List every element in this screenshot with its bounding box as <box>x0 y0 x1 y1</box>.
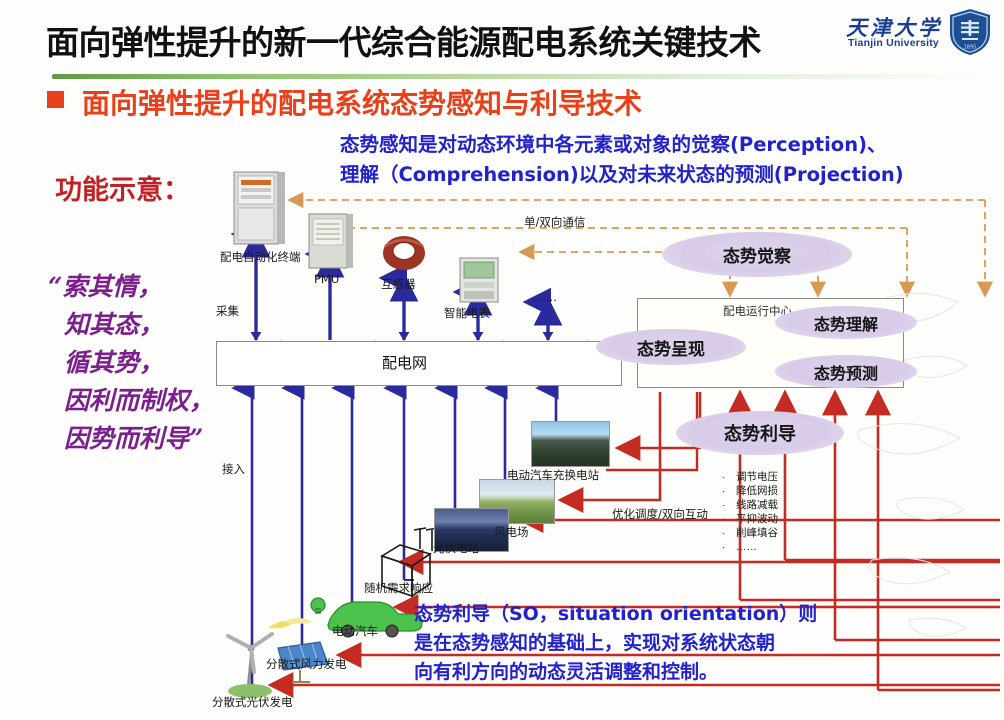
function-illustration-label: 功能示意： <box>55 168 190 207</box>
label-ev-station: 电动汽车充换电站 <box>507 467 599 483</box>
label-pv-plant: 光伏电站 <box>433 540 479 556</box>
university-logo: 天津大学 Tianjin University 1895 <box>836 6 996 62</box>
tianjin-university-shield-icon: 1895 <box>948 8 992 56</box>
control-cabinet-icon <box>234 172 285 244</box>
solar-panel-icon <box>268 618 328 682</box>
bullet-dot-icon: · <box>722 526 736 540</box>
situation-comprehension-label: 态势理解 <box>814 311 878 335</box>
bullet-dot-icon: · <box>722 512 736 526</box>
label-distributed-pv: 分散式光伏发电 <box>212 694 293 710</box>
title-divider <box>52 74 972 79</box>
bullet-dot-icon: · <box>722 470 736 484</box>
label-distributed-wind: 分散式风力发电 <box>266 656 347 672</box>
charging-station-photo-icon <box>531 421 610 467</box>
poem-line-5: 因势而利导” <box>48 420 278 458</box>
label-ct: 互感器 <box>381 276 416 292</box>
poem-line-2: 知其态， <box>48 306 278 344</box>
label-collect: 采集 <box>216 303 239 319</box>
intro-line-2: 理解（Comprehension)以及对未来状态的预测(Projection) <box>340 160 995 190</box>
label-smart-meter: 智能电表 <box>444 305 490 321</box>
label-pmu: PMU <box>314 272 339 286</box>
conclusion-line-1: 态势利导（SO，situation orientation）则 <box>414 600 1004 629</box>
measure-item: ·降低网损 <box>722 484 778 498</box>
conclusion-paragraph: 态势利导（SO，situation orientation）则 是在态势感知的基… <box>414 600 1004 687</box>
poem-line-1: “索其情， <box>48 268 278 306</box>
conclusion-line-3: 向有利方向的动态灵活调整和控制。 <box>414 658 1004 687</box>
conclusion-line-2: 是在态势感知的基础上，实现对系统状态朝 <box>414 629 1004 658</box>
poem-line-4: 因利而制权， <box>48 382 278 420</box>
distribution-network-label: 配电网 <box>382 352 427 373</box>
title-bar: 面向弹性提升的新一代综合能源配电系统关键技术 天津大学 Tianjin Univ… <box>0 0 1004 78</box>
situation-presentation-label: 态势呈现 <box>637 335 705 360</box>
orientation-measures-list: ·调节电压 ·降低网损 ·线路减载 ·平抑波动 ·削峰填谷 ·…… <box>722 470 778 554</box>
label-more-devices: …… <box>532 290 559 304</box>
measure-label: 平抑波动 <box>736 513 778 525</box>
measure-label: …… <box>736 541 757 553</box>
measure-item: ·调节电压 <box>722 470 778 484</box>
page-title: 面向弹性提升的新一代综合能源配电系统关键技术 <box>46 16 761 64</box>
intro-line-1: 态势感知是对动态环境中各元素或对象的觉察(Perception)、 <box>340 130 995 160</box>
situation-orientation-node: 态势利导 <box>676 411 844 455</box>
measure-label: 削峰填谷 <box>736 527 778 539</box>
current-transformer-icon <box>383 236 425 270</box>
situation-projection-label: 态势预测 <box>814 360 878 384</box>
measure-item: ·线路减载 <box>722 498 778 512</box>
measure-item: ·削峰填谷 <box>722 526 778 540</box>
situation-awareness-label: 态势觉察 <box>723 242 791 267</box>
label-dtu: 配电自动化终端 <box>220 249 301 265</box>
label-access: 接入 <box>222 461 245 477</box>
label-communication: 单/双向通信 <box>524 214 585 230</box>
slide-root: 面向弹性提升的新一代综合能源配电系统关键技术 天津大学 Tianjin Univ… <box>0 0 1004 720</box>
square-bullet-icon <box>47 91 64 108</box>
logo-english-name: Tianjin University <box>848 37 939 49</box>
measure-label: 调节电压 <box>736 471 778 483</box>
label-dispatch: 优化调度/双向互动 <box>612 506 708 522</box>
svg-text:1895: 1895 <box>964 45 977 51</box>
pmu-cabinet-icon <box>309 214 353 268</box>
collection-arrow-bottom-heads <box>251 332 554 341</box>
measure-item: ·平抑波动 <box>722 512 778 526</box>
situation-projection-node: 态势预测 <box>775 355 917 388</box>
bullet-dot-icon: · <box>722 540 736 554</box>
smart-meter-icon <box>460 258 498 302</box>
label-ev: 电动汽车 <box>332 623 378 639</box>
measure-item: ·…… <box>722 540 778 554</box>
measure-label: 线路减载 <box>736 499 778 511</box>
label-wind-farm: 风电场 <box>494 524 529 540</box>
situation-awareness-node: 态势觉察 <box>662 232 852 277</box>
bullet-dot-icon: · <box>722 484 736 498</box>
bullet-dot-icon: · <box>722 498 736 512</box>
label-demand-response: 随机需求响应 <box>364 580 433 596</box>
situation-comprehension-node: 态势理解 <box>775 306 917 339</box>
intro-paragraph: 态势感知是对动态环境中各元素或对象的觉察(Perception)、 理解（Com… <box>340 130 995 190</box>
situation-presentation-node: 态势呈现 <box>596 329 746 365</box>
situation-orientation-label: 态势利导 <box>724 420 796 446</box>
measure-label: 降低网损 <box>736 485 778 497</box>
section-subtitle: 面向弹性提升的配电系统态势感知与利导技术 <box>82 82 642 122</box>
